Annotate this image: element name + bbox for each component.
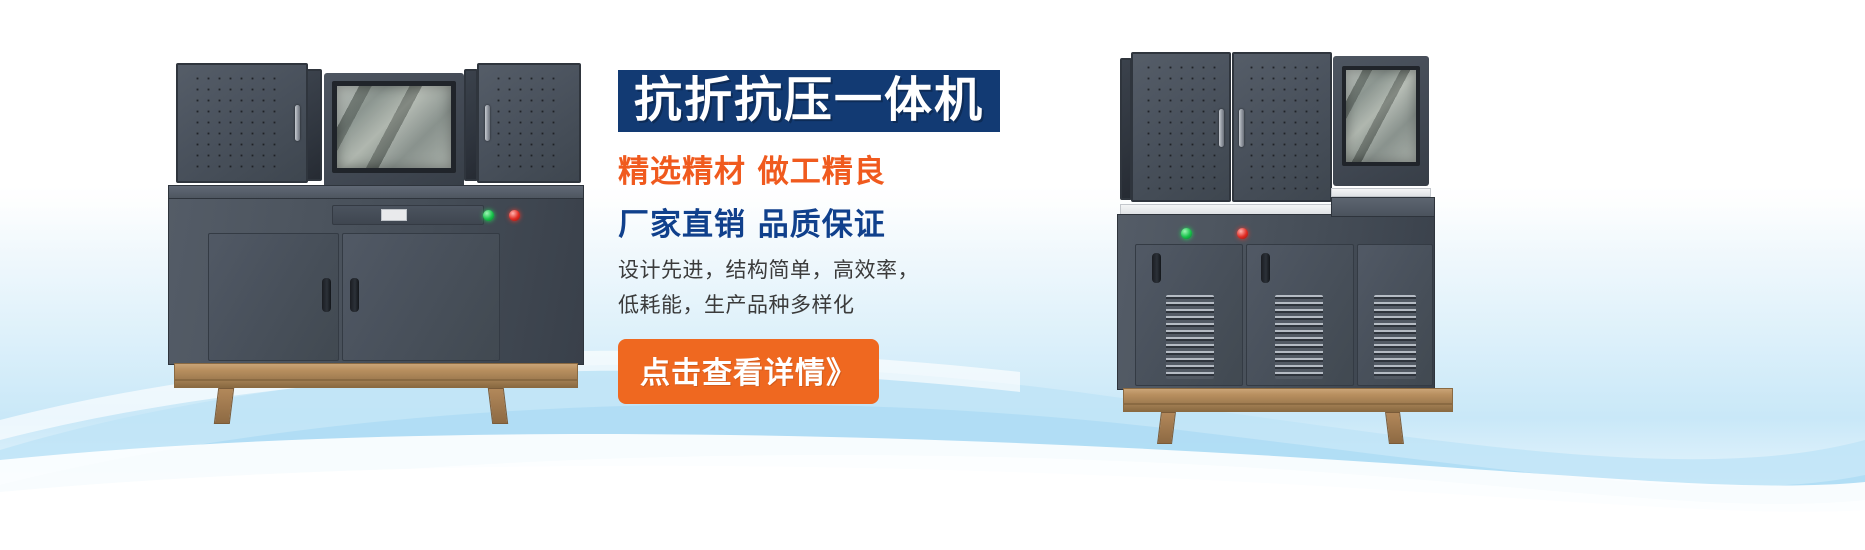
door-handle bbox=[350, 278, 359, 312]
perforated-vent-pattern bbox=[493, 73, 557, 173]
perforated-vent-pattern bbox=[192, 73, 284, 173]
slot-label bbox=[381, 209, 407, 221]
display-screen bbox=[1342, 66, 1420, 166]
right-upper-cabinet bbox=[477, 63, 581, 183]
control-slot-panel bbox=[332, 205, 484, 225]
door-handle bbox=[1152, 253, 1161, 283]
display-screen bbox=[332, 81, 456, 173]
red-indicator-light bbox=[1237, 228, 1248, 239]
product-promo-banner: 抗折抗压一体机 精选精材 做工精良 厂家直销 品质保证 设计先进，结构简单，高效… bbox=[0, 0, 1865, 550]
monitor-pedestal bbox=[1331, 197, 1435, 217]
description-line-1: 设计先进，结构简单，高效率， bbox=[618, 254, 1088, 287]
ventilation-louver bbox=[1275, 295, 1323, 379]
red-indicator-light bbox=[509, 210, 520, 221]
promo-copy-block: 抗折抗压一体机 精选精材 做工精良 厂家直销 品质保证 设计先进，结构简单，高效… bbox=[618, 70, 1088, 404]
ventilation-louver bbox=[1166, 295, 1214, 379]
view-details-button[interactable]: 点击查看详情》 bbox=[618, 339, 879, 404]
cabinet-handle bbox=[1219, 109, 1224, 147]
green-indicator-light bbox=[1181, 228, 1192, 239]
headline-bar: 抗折抗压一体机 bbox=[618, 70, 1000, 132]
pallet-leg bbox=[488, 388, 508, 424]
subheadline-orange: 精选精材 做工精良 bbox=[618, 146, 1088, 191]
cabinet-handle bbox=[485, 105, 490, 141]
left-cabinet-side bbox=[306, 69, 322, 181]
upper-cabinet-side bbox=[1120, 58, 1132, 200]
lower-door-side bbox=[1357, 244, 1433, 386]
upper-cabinet-left-door bbox=[1131, 52, 1231, 202]
control-screen-housing bbox=[324, 73, 464, 191]
pallet-leg bbox=[214, 388, 234, 424]
subheadline-blue: 厂家直销 品质保证 bbox=[618, 199, 1088, 244]
control-screen-housing bbox=[1333, 56, 1429, 186]
description-line-2: 低耗能，生产品种多样化 bbox=[618, 289, 1088, 322]
lower-door-right bbox=[342, 233, 500, 361]
wooden-pallet-lower bbox=[174, 380, 578, 388]
pallet-leg bbox=[1385, 412, 1404, 444]
door-handle bbox=[1261, 253, 1270, 283]
cabinet-handle bbox=[295, 105, 300, 141]
wooden-pallet bbox=[174, 363, 578, 380]
wooden-pallet-lower bbox=[1123, 404, 1453, 412]
page-title: 抗折抗压一体机 bbox=[634, 72, 984, 128]
wooden-pallet bbox=[1123, 388, 1453, 404]
background-wave-bottom bbox=[0, 430, 1865, 550]
product-image-right bbox=[1115, 42, 1465, 432]
perforated-vent-pattern bbox=[1246, 62, 1320, 192]
green-indicator-light bbox=[483, 210, 494, 221]
cabinet-handle bbox=[1239, 109, 1244, 147]
lower-door-right bbox=[1246, 244, 1354, 386]
monitor-base-strip bbox=[1331, 188, 1431, 197]
perforated-vent-pattern bbox=[1143, 62, 1217, 192]
door-handle bbox=[322, 278, 331, 312]
upper-cabinet-right-door bbox=[1232, 52, 1332, 202]
lower-door-left bbox=[208, 233, 339, 361]
left-upper-cabinet bbox=[176, 63, 308, 183]
lower-door-left bbox=[1135, 244, 1243, 386]
right-cabinet-side bbox=[464, 69, 478, 181]
product-image-left bbox=[160, 45, 600, 430]
body-top-ledge bbox=[168, 185, 584, 199]
ventilation-louver bbox=[1374, 295, 1416, 379]
